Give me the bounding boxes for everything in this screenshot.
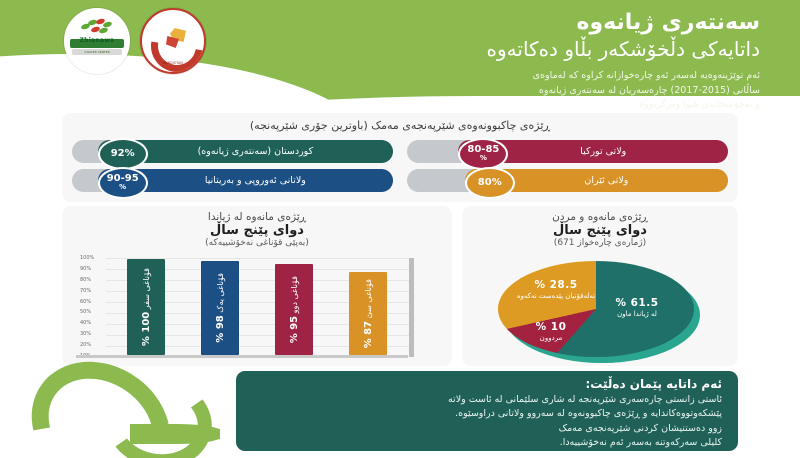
pill-value-sub: % [119, 184, 126, 191]
page-title: سەنتەری ژیانەوە [240, 10, 760, 36]
pill-label: ولاتی ئێران [550, 175, 642, 186]
y-tick: 20% [80, 342, 91, 348]
logo-tree-name: Zhianawa [66, 37, 128, 44]
bar-stage-two: قۆناغی دوو 95 % [275, 264, 313, 355]
bar-stage-one: قۆناغی یەک 98 % [201, 261, 239, 355]
bar-chart-bars: قۆناغی سفر 100 % قۆناغی یەک 98 % قۆناغی … [109, 259, 405, 355]
pie-value: 10 % [520, 321, 582, 334]
pie-chart-note: (ژمارەی چارەخواز 671) [462, 238, 738, 248]
header-description-line-2: ساڵانی (2015-2017) چارەسەریان لە سەنتەری… [240, 84, 760, 99]
header-description-line-1: ئەم توێژینەوەیە لەسەر ئەو چارەخوازانە کر… [240, 69, 760, 84]
header-description: ئەم توێژینەوەیە لەسەر ئەو چارەخوازانە کر… [240, 69, 760, 113]
y-tick: 100% [80, 255, 94, 261]
bar-text: قۆناغی یەک 98 % [211, 273, 230, 343]
y-tick: 40% [80, 320, 91, 326]
y-tick: 60% [80, 299, 91, 305]
bar-value-label: 95 % [289, 316, 300, 343]
y-tick: 50% [80, 309, 91, 315]
pill-value-sub: % [480, 155, 487, 162]
bar-text: قۆناغی سفر 100 % [137, 268, 156, 346]
bar-stage-zero: قۆناغی سفر 100 % [127, 259, 165, 355]
bar-chart-axis-vertical [409, 258, 414, 357]
header-banner: KURDISTAN Zhianawa CANCER CENTER سەنتەری… [0, 0, 800, 118]
header-text-block: سەنتەری ژیانەوە داتایەکی دڵخۆشکەر بڵاو د… [240, 10, 760, 113]
y-tick: 80% [80, 277, 91, 283]
conclusion-line-2: پێشکەوتووەکاندایە و ڕێژەی چاکبوونەوە لە … [252, 407, 722, 421]
bar-stage-three: قۆناغی سێ 87 % [349, 272, 387, 355]
pill-value-badge: 90-95 % [98, 167, 148, 199]
survival-pie-chart-card: ڕێژەی مانەوە و مردن دوای پێنج ساڵ (ژمارە… [462, 206, 738, 366]
bar-text: قۆناغی سێ 87 % [359, 279, 378, 348]
pie-label-unreachable: 28.5 % تەلەفۆنیان پێدەست نەکەوە [516, 279, 596, 301]
y-tick: 70% [80, 288, 91, 294]
conclusion-panel: ئەم داتایە پێمان دەڵێت: ئاستی زانستی چار… [236, 371, 738, 451]
logo-crescent-caption: KURDISTAN [142, 61, 204, 65]
pie-label-alive: 61.5 % لە ژیاندا ماون [594, 297, 680, 319]
recovery-pill-turkey: ولاتی تورکیا 80-85 % [407, 140, 728, 163]
conclusion-line-4: کلیلی سەرکەوتنە بەسەر ئەم نەخۆشییەدا. [252, 436, 722, 450]
conclusion-body: ئاستی زانستی چارەسەری شێرپەنجە لە شاری س… [252, 393, 722, 450]
logo-tree-sub: CANCER CENTER [66, 50, 128, 54]
pill-value-badge: 80-85 % [458, 138, 508, 170]
recovery-pill-europe: ولاتانی ئەوروپی و بەریتانیا 90-95 % [72, 169, 393, 192]
pie-value: 61.5 % [594, 297, 680, 310]
bar-chart-note: (بەپێی قۆناغی نەخۆشییەکە) [62, 238, 452, 248]
y-tick: 90% [80, 266, 91, 272]
zhianawa-tree-logo-icon: Zhianawa CANCER CENTER [64, 8, 130, 74]
header-description-line-3: و نەخۆشخانەی هیوا وەرگرتووە [240, 98, 760, 113]
pie-category: تەلەفۆنیان پێدەست نەکەوە [516, 292, 596, 301]
bar-value-label: 98 % [215, 315, 226, 342]
recovery-pill-iran: ولاتی ئێران 80% [407, 169, 728, 192]
bar-text: قۆناغی دوو 95 % [285, 276, 304, 343]
recovery-pill-grid: ولاتی تورکیا 80-85 % کوردستان (سەنتەری ژ… [72, 140, 728, 192]
pill-label: کوردستان (سەنتەری ژیانەوە) [164, 146, 328, 157]
conclusion-line-1: ئاستی زانستی چارەسەری شێرپەنجە لە شاری س… [252, 393, 722, 407]
bar-chart-title: ڕێژەی مانەوە لە ژیاندا [62, 211, 452, 223]
pill-value-badge: 80% [465, 167, 515, 199]
bar-value-label: 100 % [141, 312, 152, 346]
page-subtitle: داتایەکی دڵخۆشکەر بڵاو دەکاتەوە [240, 37, 760, 62]
bar-category-label: قۆناغی سێ [364, 279, 373, 318]
bar-chart-title-block: ڕێژەی مانەوە لە ژیاندا دوای پێنج ساڵ (بە… [62, 206, 452, 248]
logo-group: KURDISTAN Zhianawa CANCER CENTER [64, 8, 206, 74]
recovery-card-title: ڕێژەی چاکبوونەوەی شێرپەنجەی مەمک (باوتری… [62, 119, 738, 132]
pie-chart-subtitle: دوای پێنج ساڵ [462, 223, 738, 238]
conclusion-line-3: زوو دەستنیشان کردنی شێرپەنجەی مەمک [252, 422, 722, 436]
infographic-page: KURDISTAN Zhianawa CANCER CENTER سەنتەری… [0, 0, 800, 458]
pie-category: مردوون [520, 334, 582, 343]
pill-value: 80% [478, 178, 502, 188]
survival-bar-chart-card: ڕێژەی مانەوە لە ژیاندا دوای پێنج ساڵ (بە… [62, 206, 452, 366]
bar-chart-plot: 100% 90% 80% 70% 60% 50% 40% 30% 20% 10% [76, 258, 438, 358]
swirl-tail [130, 424, 220, 444]
pie-value: 28.5 % [516, 279, 596, 292]
pie-chart-title: ڕێژەی مانەوە و مردن [462, 211, 738, 223]
bar-chart-subtitle: دوای پێنج ساڵ [62, 223, 452, 238]
recovery-pill-kurdistan: کوردستان (سەنتەری ژیانەوە) 92% [72, 140, 393, 163]
conclusion-heading: ئەم داتایە پێمان دەڵێت: [252, 377, 722, 391]
pill-value-badge: 92% [98, 138, 148, 170]
red-crescent-logo-icon: KURDISTAN [140, 8, 206, 74]
pill-value: 92% [111, 149, 135, 159]
pie-chart-plot: 61.5 % لە ژیاندا ماون 28.5 % تەلەفۆنیان … [498, 261, 703, 361]
bar-chart-axis-horizontal [76, 355, 408, 358]
recovery-rate-card: ڕێژەی چاکبوونەوەی شێرپەنجەی مەمک (باوتری… [62, 113, 738, 202]
swirl-decoration-icon [10, 360, 220, 458]
pie-category: لە ژیاندا ماون [594, 310, 680, 319]
pill-label: ولاتی تورکیا [546, 146, 640, 157]
pie-chart-title-block: ڕێژەی مانەوە و مردن دوای پێنج ساڵ (ژمارە… [462, 206, 738, 248]
y-tick: 30% [80, 331, 91, 337]
pill-label: ولاتانی ئەوروپی و بەریتانیا [171, 175, 320, 186]
bar-category-label: قۆناغی دوو [290, 276, 299, 313]
pie-label-deceased: 10 % مردوون [520, 321, 582, 343]
bar-category-label: قۆناغی سفر [142, 268, 151, 309]
bar-category-label: قۆناغی یەک [216, 273, 225, 313]
tree-canopy-icon [79, 19, 115, 37]
bar-value-label: 87 % [363, 321, 374, 348]
